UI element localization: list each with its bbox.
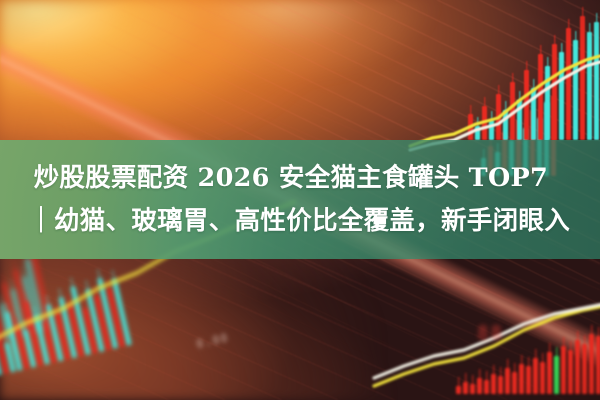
headline-line-2: ｜幼猫、玻璃胃、高性价比全覆盖，新手闭眼入 (28, 200, 570, 243)
headline-line-1: 炒股股票配资 2026 安全猫主食罐头 TOP7 (34, 157, 570, 200)
headline-banner: 炒股股票配资 2026 安全猫主食罐头 TOP7 ｜幼猫、玻璃胃、高性价比全覆盖… (0, 140, 600, 259)
banner-image: 88 0.00 炒股股票配资 2026 安全猫主食罐头 TOP7 ｜幼猫、玻璃胃… (0, 0, 600, 400)
